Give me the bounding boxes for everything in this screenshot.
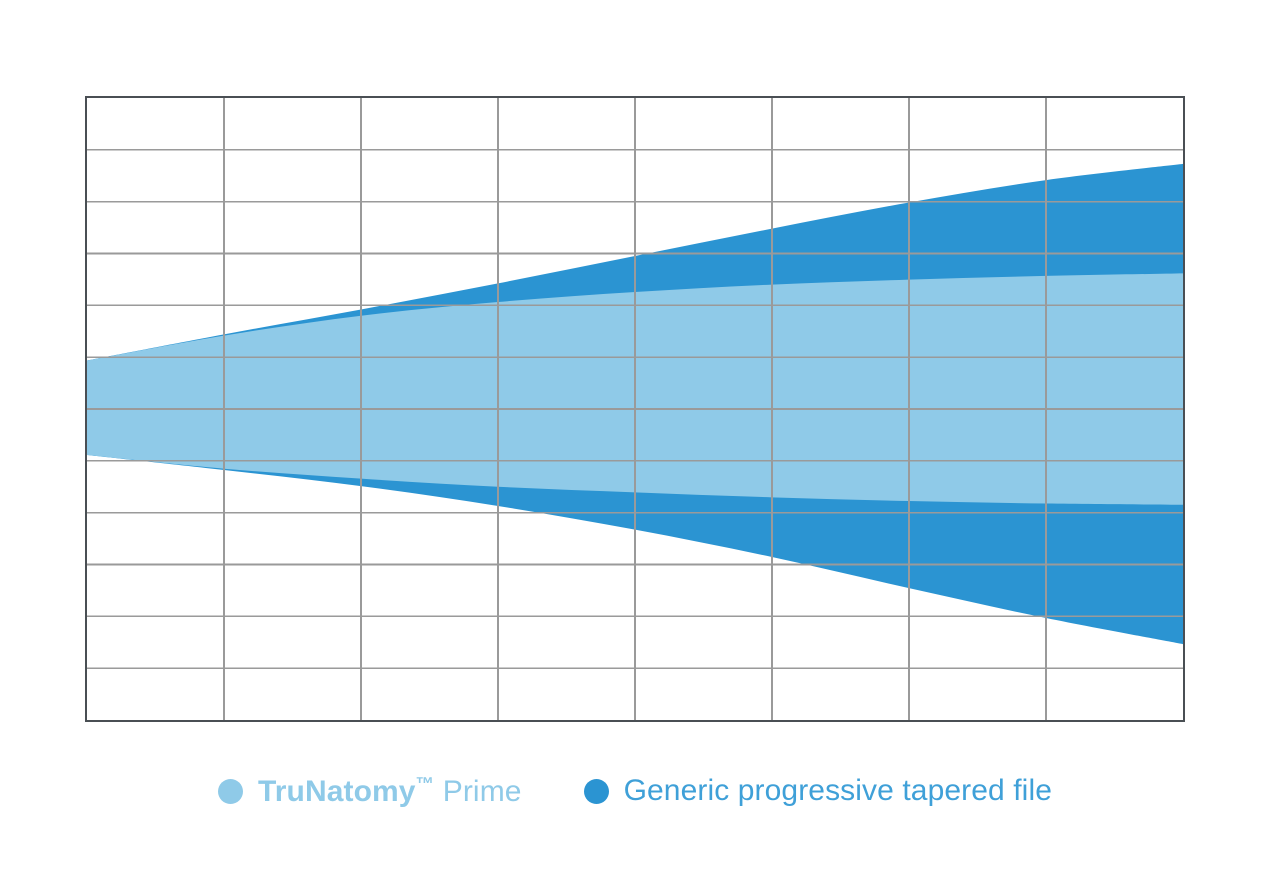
chart-gridlines — [87, 98, 1183, 720]
legend-item-trunatomy[interactable]: TruNatomy™ Prime — [218, 775, 522, 807]
legend-label-generic: Generic progressive tapered file — [624, 776, 1052, 806]
chart-plot-area — [85, 96, 1185, 722]
taper-comparison-figure: TruNatomy™ Prime Generic progressive tap… — [0, 0, 1280, 895]
legend-label-trunatomy: TruNatomy™ Prime — [258, 775, 522, 807]
legend-label-generic-light: Generic progressive tapered file — [624, 774, 1052, 807]
legend-dot-trunatomy — [218, 779, 243, 804]
legend-dot-generic — [584, 779, 609, 804]
legend-label-trunatomy-trademark: ™ — [416, 773, 435, 794]
chart-legend: TruNatomy™ Prime Generic progressive tap… — [85, 758, 1185, 824]
legend-label-trunatomy-light: Prime — [443, 775, 522, 808]
legend-item-generic[interactable]: Generic progressive tapered file — [584, 776, 1052, 806]
legend-label-trunatomy-strong: TruNatomy — [258, 775, 416, 808]
